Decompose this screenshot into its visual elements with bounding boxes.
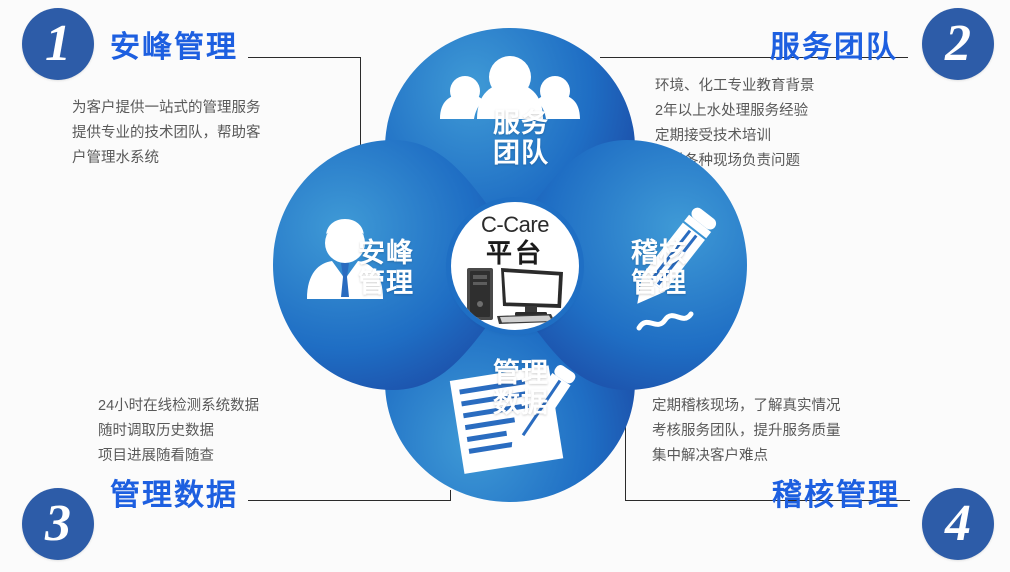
section-heading-2: 服务团队 (770, 22, 898, 66)
number-badge-2: 2 (922, 8, 994, 80)
section-body-3: 24小时在线检测系统数据 随时调取历史数据 项目进展随看随查 (98, 394, 259, 469)
desktop-computer-icon (463, 264, 567, 330)
number-badge-4: 4 (922, 488, 994, 560)
center-hub: C-Care 平台 (451, 202, 579, 330)
petal-label-service-team: 服务 团队 (475, 108, 567, 168)
section-heading-4: 稽核管理 (772, 470, 900, 514)
petal-label-anfeng-management: 安峰 管理 (340, 238, 432, 298)
petal-label-audit-management: 稽核 管理 (613, 238, 705, 298)
body-line: 随时调取历史数据 (98, 419, 259, 444)
body-line: 为客户提供一站式的管理服务 (72, 96, 261, 121)
infographic-canvas: 1 2 3 4 安峰管理 服务团队 管理数据 稽核管理 为客户提供一站式的管理服… (0, 0, 1010, 572)
number-badge-3: 3 (22, 488, 94, 560)
body-line: 户管理水系统 (72, 146, 261, 171)
body-line: 提供专业的技术团队，帮助客 (72, 121, 261, 146)
body-line: 24小时在线检测系统数据 (98, 394, 259, 419)
section-heading-3: 管理数据 (110, 470, 238, 514)
petal-label-data-management: 管理 数据 (475, 358, 567, 418)
body-line: 项目进展随看随查 (98, 444, 259, 469)
section-heading-1: 安峰管理 (110, 22, 238, 66)
number-badge-1: 1 (22, 8, 94, 80)
section-body-1: 为客户提供一站式的管理服务 提供专业的技术团队，帮助客 户管理水系统 (72, 96, 261, 171)
